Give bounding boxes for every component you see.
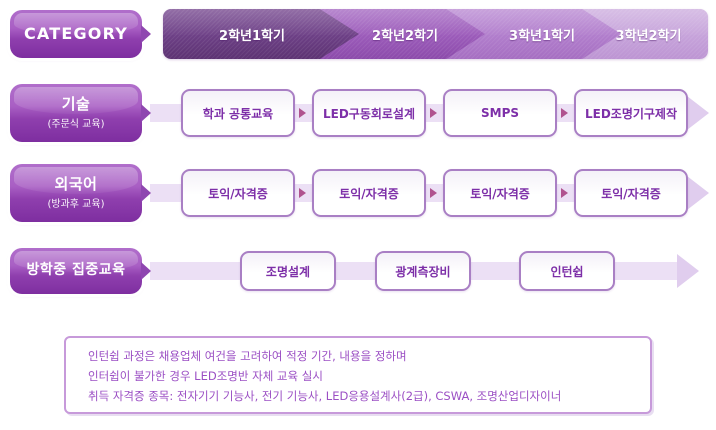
course-box-tech-3[interactable]: SMPS bbox=[443, 89, 557, 137]
course-box-tech-2[interactable]: LED구동회로설계 bbox=[312, 89, 426, 137]
track-end-arrow-tech-icon bbox=[687, 96, 709, 130]
row-label-vacation-title: 방학중 집중교육 bbox=[26, 263, 125, 278]
course-box-vacation-2[interactable]: 광계측장비 bbox=[375, 251, 471, 291]
course-box-tech-1[interactable]: 학과 공통교육 bbox=[181, 89, 295, 137]
semester-segment-2-label: 2학년2학기 bbox=[372, 25, 438, 44]
row-label-tech: 기술 (주문식 교육) bbox=[10, 84, 142, 142]
connector-arrow-language-1-icon bbox=[299, 188, 306, 198]
footnote-line-1: 인턴쉽 과정은 채용업체 여건을 고려하여 적정 기간, 내용을 정하며 bbox=[88, 346, 650, 366]
category-header-pill: CATEGORY bbox=[10, 10, 142, 58]
track-end-arrow-language-icon bbox=[687, 176, 709, 210]
row-tech-notch-icon bbox=[141, 104, 151, 122]
semester-segment-3-label: 3학년1학기 bbox=[509, 25, 575, 44]
row-vacation-notch-icon bbox=[141, 262, 151, 280]
semester-segment-1-label: 2학년1학기 bbox=[219, 25, 285, 44]
row-label-language: 외국어 (방과후 교육) bbox=[10, 164, 142, 222]
course-box-language-3[interactable]: 토익/자격증 bbox=[443, 169, 557, 217]
semester-segment-1[interactable]: 2학년1학기 bbox=[163, 9, 359, 59]
course-box-vacation-3[interactable]: 인턴쉽 bbox=[519, 251, 615, 291]
footnote-line-3: 취득 자격증 종목: 전자기기 기능사, 전기 기능사, LED응용설계사(2급… bbox=[88, 386, 650, 406]
row-label-tech-title: 기술 bbox=[62, 96, 91, 113]
connector-arrow-language-2-icon bbox=[430, 188, 437, 198]
connector-arrow-tech-1-icon bbox=[299, 108, 306, 118]
connector-arrow-language-3-icon bbox=[561, 188, 568, 198]
curriculum-roadmap-diagram: CATEGORY 2학년1학기 2학년2학기 3학년1학기 3학년2학기 기술 … bbox=[0, 0, 716, 430]
semester-timeline-bar: 2학년1학기 2학년2학기 3학년1학기 3학년2학기 bbox=[163, 9, 708, 59]
footnote-box: 인턴쉽 과정은 채용업체 여건을 고려하여 적정 기간, 내용을 정하며 인터쉽… bbox=[64, 336, 652, 414]
category-notch-icon bbox=[141, 25, 151, 43]
row-label-tech-subtitle: (주문식 교육) bbox=[48, 115, 105, 130]
category-header-label: CATEGORY bbox=[24, 25, 128, 43]
track-end-arrow-vacation-icon bbox=[677, 254, 699, 288]
connector-arrow-tech-2-icon bbox=[430, 108, 437, 118]
row-label-language-subtitle: (방과후 교육) bbox=[48, 195, 105, 210]
footnote-line-2: 인터쉽이 불가한 경우 LED조명반 자체 교육 실시 bbox=[88, 366, 650, 386]
semester-segment-4-label: 3학년2학기 bbox=[616, 25, 682, 44]
row-language-notch-icon bbox=[141, 184, 151, 202]
connector-arrow-tech-3-icon bbox=[561, 108, 568, 118]
row-label-vacation: 방학중 집중교육 bbox=[10, 248, 142, 294]
course-box-vacation-1[interactable]: 조명설계 bbox=[240, 251, 336, 291]
course-box-language-4[interactable]: 토익/자격증 bbox=[574, 169, 688, 217]
course-box-tech-4[interactable]: LED조명기구제작 bbox=[574, 89, 688, 137]
row-label-language-title: 외국어 bbox=[55, 176, 98, 193]
course-box-language-1[interactable]: 토익/자격증 bbox=[181, 169, 295, 217]
course-box-language-2[interactable]: 토익/자격증 bbox=[312, 169, 426, 217]
